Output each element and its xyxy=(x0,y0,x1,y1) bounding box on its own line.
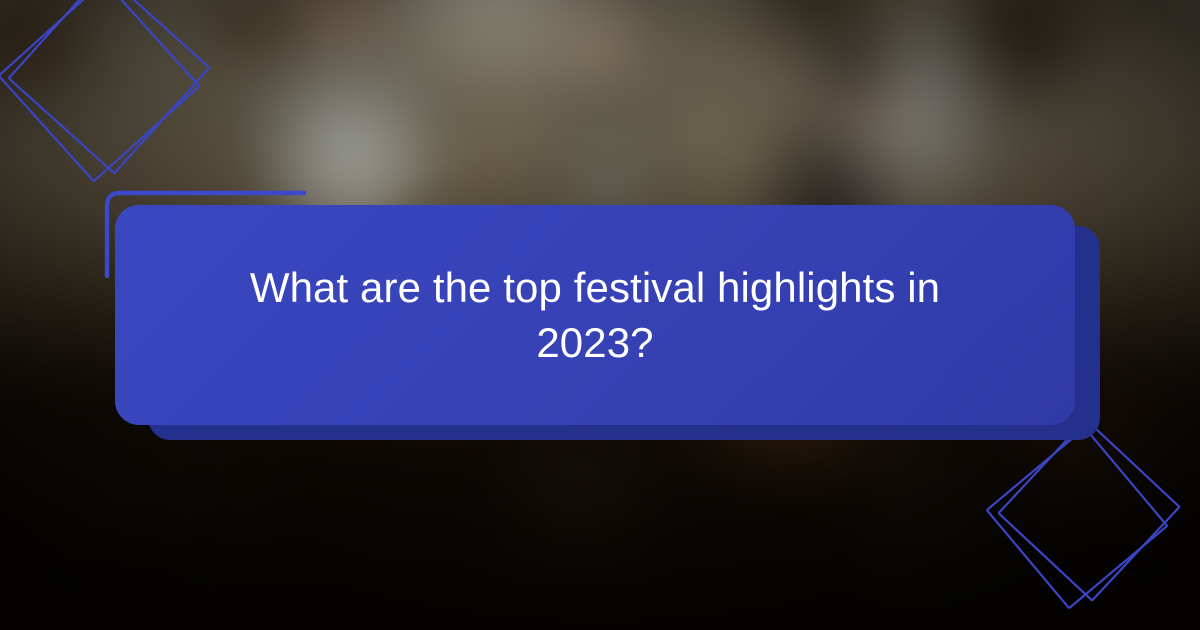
rotated-squares-top-left-icon xyxy=(0,0,222,203)
share-card-canvas: What are the top festival highlights in … xyxy=(0,0,1200,630)
rotated-squares-bottom-right-icon xyxy=(985,428,1200,630)
headline-card[interactable]: What are the top festival highlights in … xyxy=(115,205,1075,425)
headline-text: What are the top festival highlights in … xyxy=(225,260,965,371)
